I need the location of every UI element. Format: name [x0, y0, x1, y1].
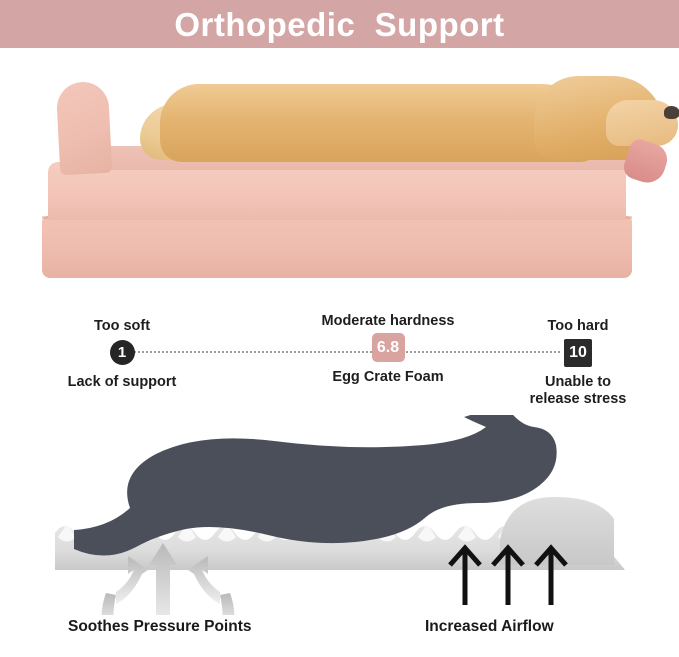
pressure-arrow-left-tail	[102, 593, 117, 615]
pressure-arrow-right-tail	[220, 593, 235, 615]
foam-cross-section-diagram: Soothes Pressure Points Increased Airflo…	[0, 415, 679, 657]
airflow-arrows	[450, 548, 566, 605]
hardness-scale: Too soft 1 Lack of support Moderate hard…	[0, 300, 679, 415]
scale-marker-row: 6.8	[300, 333, 476, 363]
scale-node-moderate: Moderate hardness 6.8 Egg Crate Foam	[300, 313, 476, 386]
scale-marker-1: 1	[110, 340, 135, 365]
infographic-page: Orthopedic Support Too soft 1 Lack of su…	[0, 0, 679, 657]
header-banner: Orthopedic Support	[0, 0, 679, 48]
scale-node-bottom-label: Lack of support	[46, 374, 198, 391]
airflow-arrow-3	[536, 548, 566, 605]
scale-node-too-soft: Too soft 1 Lack of support	[46, 318, 198, 391]
scale-node-bottom-label: Unable to release stress	[508, 374, 648, 409]
scale-node-top-label: Too soft	[46, 318, 198, 335]
scale-node-bottom-line2: release stress	[508, 391, 648, 408]
scale-node-bottom-label: Egg Crate Foam	[300, 369, 476, 386]
scale-marker-10: 10	[564, 339, 592, 367]
scale-node-too-hard: Too hard 10 Unable to release stress	[508, 318, 648, 408]
scale-marker-6-8: 6.8	[372, 333, 405, 362]
foam-diagram-svg	[0, 415, 679, 615]
bed-base-layer	[42, 216, 632, 278]
scale-node-top-label: Too hard	[508, 318, 648, 335]
bed-left-bolster	[56, 81, 113, 176]
dog-nose	[664, 106, 679, 119]
airflow-arrow-2	[493, 548, 523, 605]
scale-node-top-label: Moderate hardness	[300, 313, 476, 330]
scale-marker-row: 1	[46, 338, 198, 368]
label-increased-airflow: Increased Airflow	[425, 618, 554, 637]
scale-node-bottom-line1: Unable to	[508, 374, 648, 391]
airflow-arrow-1	[450, 548, 480, 605]
scale-marker-row: 10	[508, 338, 648, 368]
page-title: Orthopedic Support	[174, 8, 504, 41]
bed-mattress-layer	[48, 162, 626, 220]
label-soothes-pressure-points: Soothes Pressure Points	[68, 618, 251, 637]
dog-bed-illustration	[40, 82, 640, 282]
dog-silhouette	[74, 415, 557, 556]
product-photo	[0, 48, 679, 300]
